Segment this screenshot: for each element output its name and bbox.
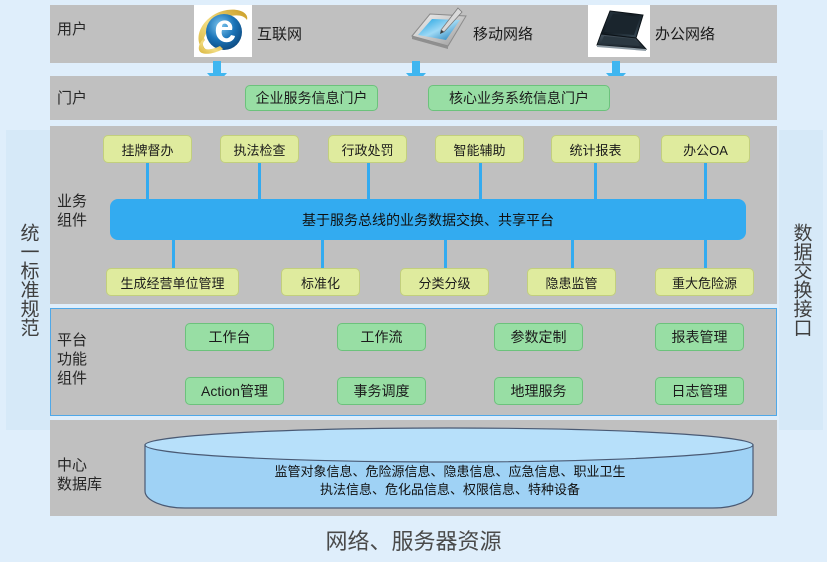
business-box-supervision-order[interactable]: 挂牌督办 bbox=[103, 135, 192, 163]
architecture-diagram: 统一标准规范 数据交换接口 用户 bbox=[0, 0, 827, 562]
business-box-label: 办公OA bbox=[683, 140, 728, 159]
internet-explorer-icon bbox=[194, 5, 252, 57]
connector-line bbox=[704, 240, 707, 269]
connector-line bbox=[146, 163, 149, 200]
mobile-network-label: 移动网络 bbox=[473, 23, 533, 44]
unified-standard-label: 统一标准规范 bbox=[17, 223, 40, 337]
connector-line bbox=[367, 163, 370, 200]
mobile-tablet-icon bbox=[408, 6, 470, 54]
business-box-production-unit-management[interactable]: 生成经营单位管理 bbox=[106, 268, 239, 296]
business-box-administrative-penalty[interactable]: 行政处罚 bbox=[328, 135, 407, 163]
business-box-label: 行政处罚 bbox=[341, 140, 393, 159]
connector-line bbox=[258, 163, 261, 200]
page-title: 网络、服务器资源 bbox=[0, 524, 827, 556]
connector-line bbox=[594, 163, 597, 200]
business-row-label: 业务 组件 bbox=[57, 192, 87, 230]
connector-line bbox=[172, 240, 175, 269]
portal-box-label: 核心业务系统信息门户 bbox=[449, 88, 589, 108]
business-box-law-enforcement-inspection[interactable]: 执法检查 bbox=[220, 135, 299, 163]
platform-box-geographic-service[interactable]: 地理服务 bbox=[494, 377, 583, 405]
laptop-icon bbox=[588, 5, 650, 57]
business-box-label: 统计报表 bbox=[569, 140, 621, 159]
platform-box-label: 事务调度 bbox=[354, 381, 410, 401]
business-box-label: 标准化 bbox=[301, 273, 340, 292]
platform-box-label: 地理服务 bbox=[511, 381, 567, 401]
connector-line bbox=[571, 240, 574, 269]
platform-box-label: 工作台 bbox=[209, 327, 251, 347]
office-network-label: 办公网络 bbox=[655, 23, 715, 44]
business-box-label: 挂牌督办 bbox=[121, 140, 173, 159]
platform-box-workflow[interactable]: 工作流 bbox=[337, 323, 426, 351]
database-content-text: 监管对象信息、危险源信息、隐患信息、应急信息、职业卫生 执法信息、危化品信息、权… bbox=[190, 463, 710, 499]
business-box-label: 重大危险源 bbox=[672, 273, 737, 292]
platform-box-parameter-customization[interactable]: 参数定制 bbox=[494, 323, 583, 351]
platform-row-label: 平台 功能 组件 bbox=[57, 331, 87, 388]
connector-line bbox=[321, 240, 324, 269]
service-bus-label: 基于服务总线的业务数据交换、共享平台 bbox=[302, 210, 554, 230]
business-box-hazard-supervision[interactable]: 隐患监管 bbox=[527, 268, 616, 296]
platform-box-label: Action管理 bbox=[201, 381, 268, 401]
connector-line bbox=[704, 163, 707, 200]
users-row-label: 用户 bbox=[57, 20, 87, 39]
portal-band bbox=[50, 76, 777, 120]
portal-box-core-business[interactable]: 核心业务系统信息门户 bbox=[428, 85, 610, 111]
business-box-classification-grading[interactable]: 分类分级 bbox=[400, 268, 489, 296]
platform-box-workbench[interactable]: 工作台 bbox=[185, 323, 274, 351]
business-box-label: 执法检查 bbox=[233, 140, 285, 159]
platform-box-transaction-scheduling[interactable]: 事务调度 bbox=[337, 377, 426, 405]
right-vertical-band: 数据交换接口 bbox=[779, 130, 823, 430]
platform-box-report-management[interactable]: 报表管理 bbox=[655, 323, 744, 351]
left-vertical-band: 统一标准规范 bbox=[6, 130, 50, 430]
connector-line bbox=[479, 163, 482, 200]
platform-box-label: 工作流 bbox=[361, 327, 403, 347]
business-box-label: 分类分级 bbox=[418, 273, 470, 292]
business-box-major-hazard-source[interactable]: 重大危险源 bbox=[655, 268, 754, 296]
portal-box-label: 企业服务信息门户 bbox=[256, 88, 368, 108]
business-box-intelligent-assist[interactable]: 智能辅助 bbox=[435, 135, 524, 163]
platform-box-action-management[interactable]: Action管理 bbox=[185, 377, 284, 405]
business-box-label: 生成经营单位管理 bbox=[120, 273, 224, 292]
database-row-label: 中心 数据库 bbox=[57, 456, 102, 494]
portal-box-enterprise-service[interactable]: 企业服务信息门户 bbox=[245, 85, 378, 111]
internet-label: 互联网 bbox=[257, 23, 302, 44]
business-box-standardization[interactable]: 标准化 bbox=[281, 268, 360, 296]
platform-box-label: 报表管理 bbox=[672, 327, 728, 347]
service-bus-platform-bar[interactable]: 基于服务总线的业务数据交换、共享平台 bbox=[110, 199, 746, 240]
platform-box-label: 参数定制 bbox=[511, 327, 567, 347]
business-box-office-oa[interactable]: 办公OA bbox=[661, 135, 750, 163]
business-box-label: 隐患监管 bbox=[545, 273, 597, 292]
portal-row-label: 门户 bbox=[57, 89, 87, 108]
platform-box-label: 日志管理 bbox=[672, 381, 728, 401]
business-box-statistical-report[interactable]: 统计报表 bbox=[551, 135, 640, 163]
connector-line bbox=[444, 240, 447, 269]
data-exchange-interface-label: 数据交换接口 bbox=[790, 223, 813, 337]
business-box-label: 智能辅助 bbox=[453, 140, 505, 159]
platform-box-log-management[interactable]: 日志管理 bbox=[655, 377, 744, 405]
